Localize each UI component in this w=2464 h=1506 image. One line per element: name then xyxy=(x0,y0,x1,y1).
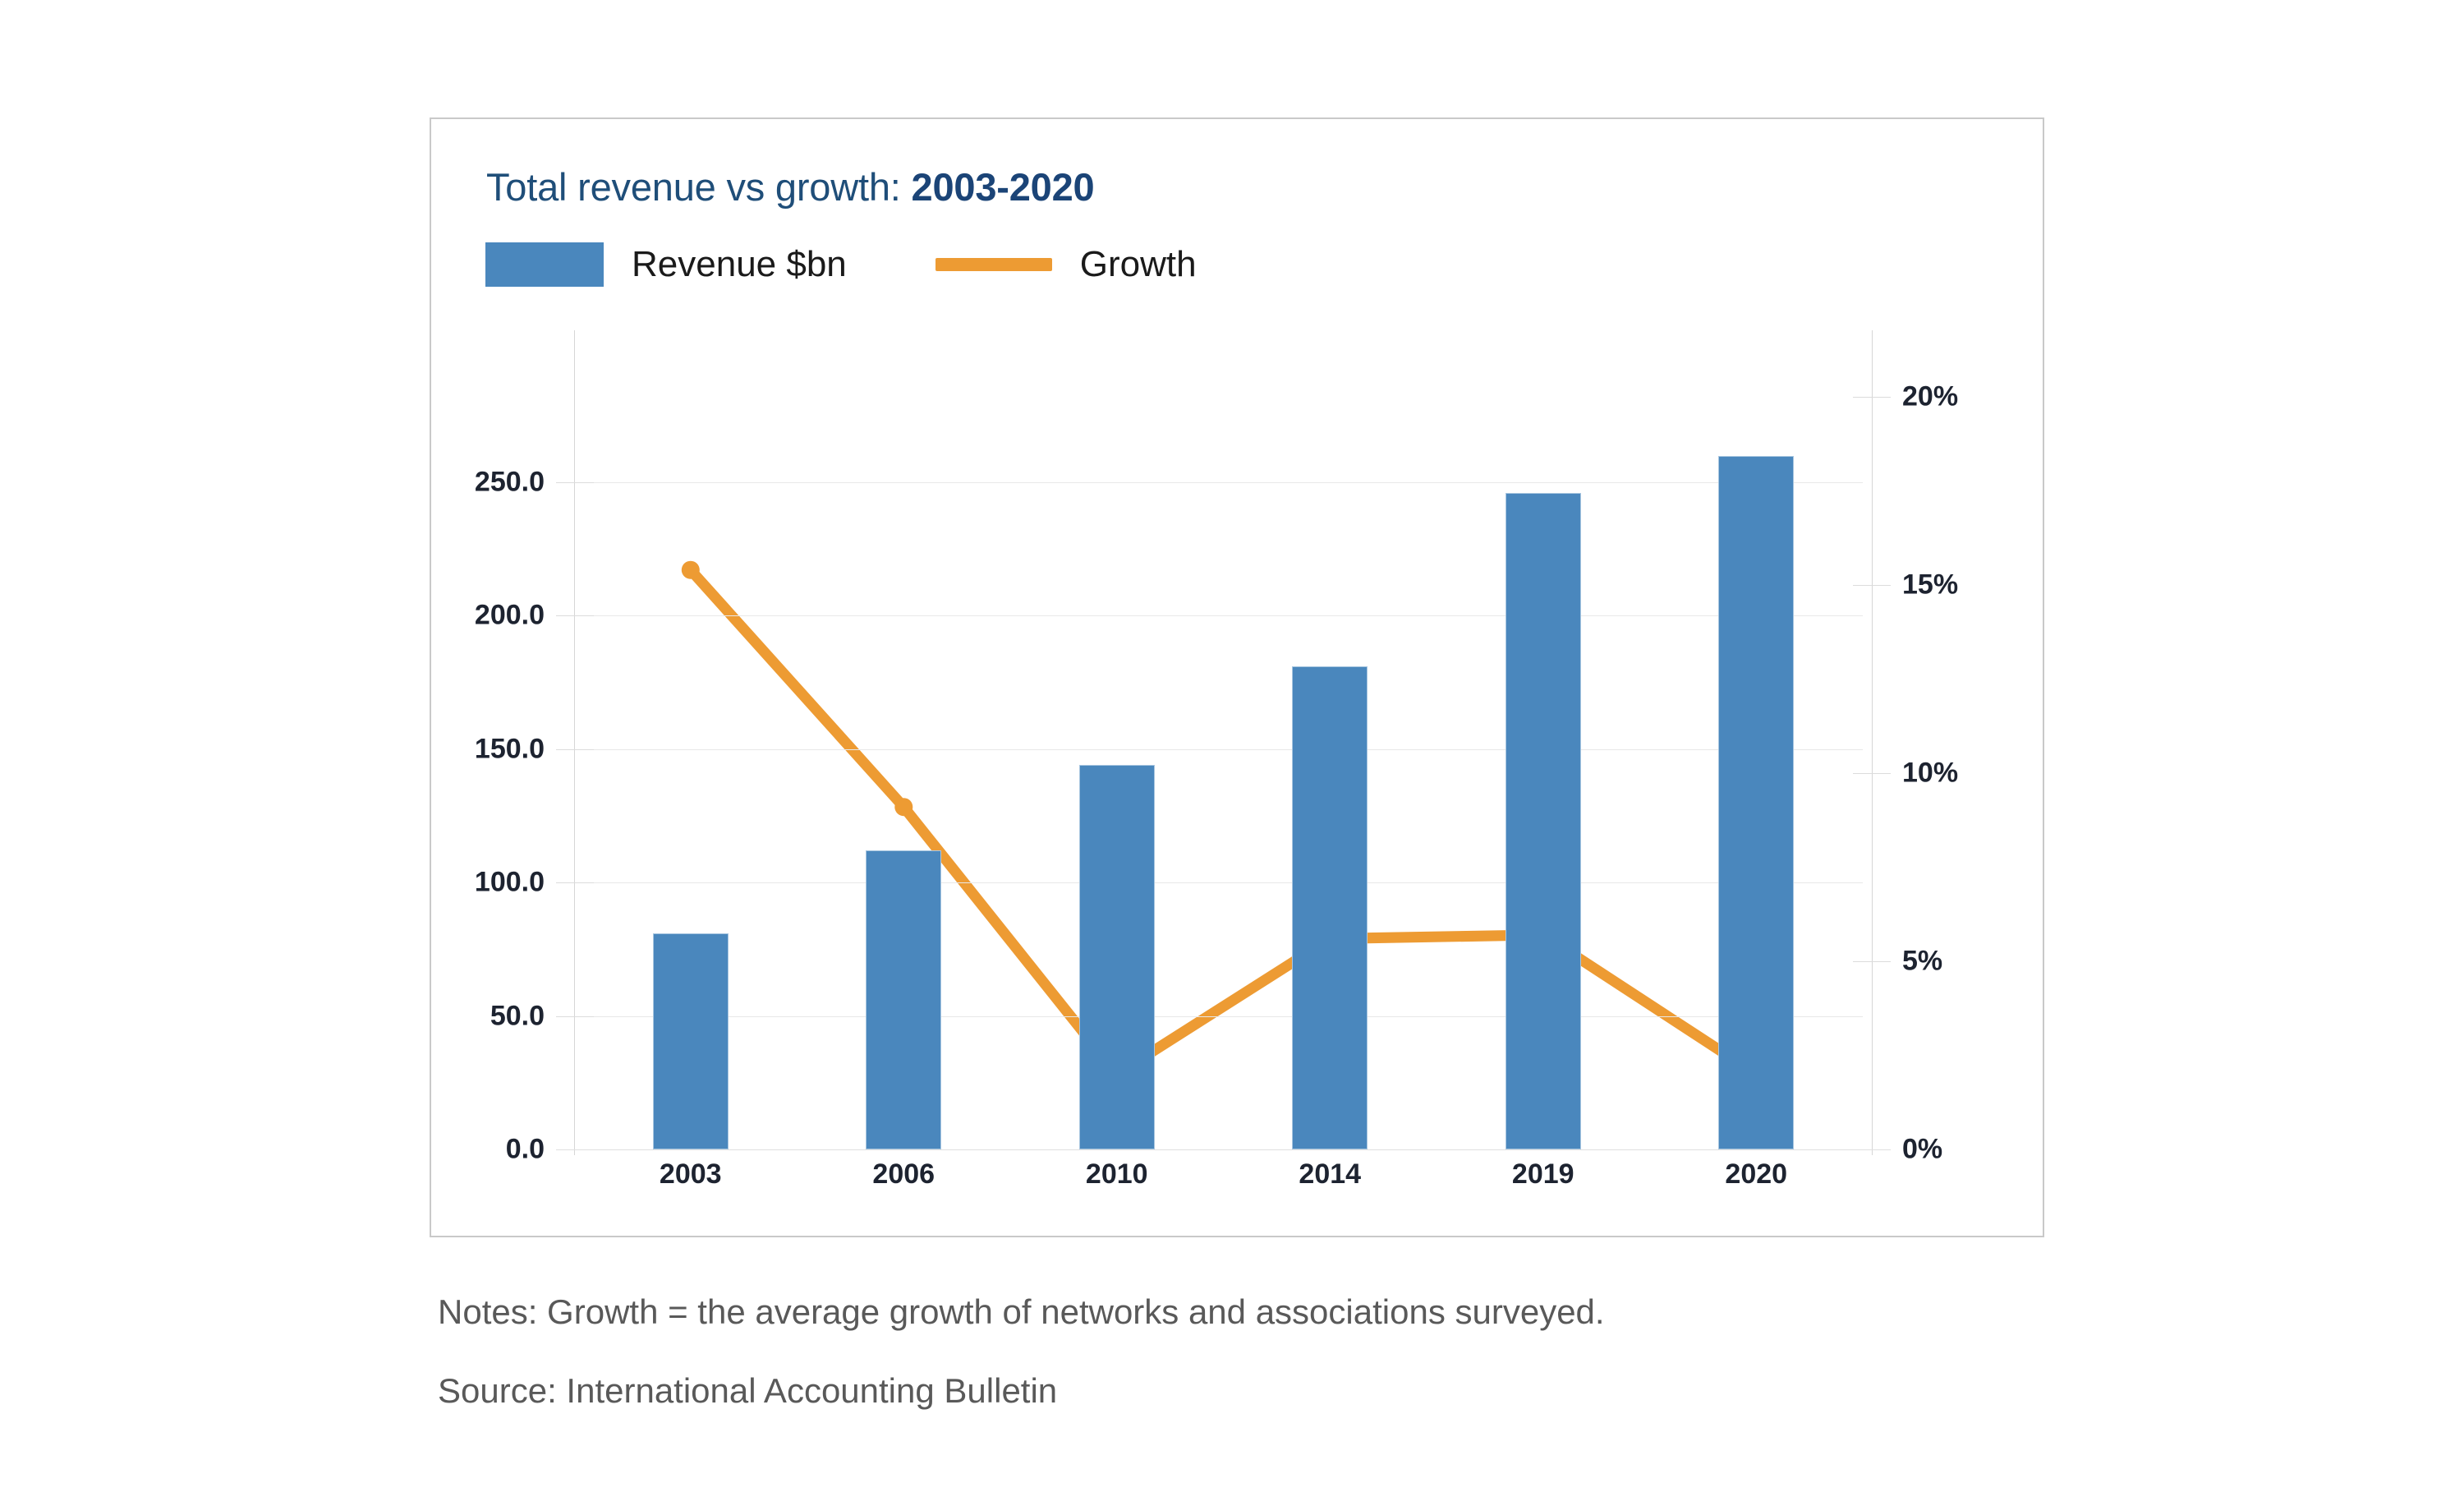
right-axis-label: 5% xyxy=(1902,946,1942,978)
baseline xyxy=(556,1149,1891,1150)
right-axis-tick xyxy=(1853,397,1891,398)
right-axis-tick xyxy=(1853,961,1891,962)
chart-card: Total revenue vs growth: 2003-2020 Reven… xyxy=(430,117,2044,1237)
bar-revenue[interactable] xyxy=(1292,666,1368,1149)
right-axis-line xyxy=(1872,330,1873,1155)
left-axis-label: 200.0 xyxy=(475,600,545,632)
left-axis-label: 0.0 xyxy=(506,1134,545,1166)
growth-data-point[interactable] xyxy=(682,561,700,579)
x-axis-label: 2006 xyxy=(872,1158,935,1191)
gridline xyxy=(584,749,1863,750)
growth-line-series xyxy=(584,376,1863,1273)
chart-page: Total revenue vs growth: 2003-2020 Reven… xyxy=(0,0,2464,1506)
bar-revenue[interactable] xyxy=(653,933,729,1149)
left-axis-label: 150.0 xyxy=(475,733,545,765)
bar-revenue[interactable] xyxy=(1079,765,1155,1149)
right-axis-label: 10% xyxy=(1902,758,1958,790)
left-axis-tick xyxy=(556,749,594,750)
left-axis-tick xyxy=(556,615,594,616)
chart-source: Source: International Accounting Bulleti… xyxy=(438,1371,1057,1411)
gridline xyxy=(584,882,1863,883)
plot-area: 0.050.0100.0150.0200.0250.00%5%10%15%20%… xyxy=(584,376,1863,1273)
x-axis-label: 2020 xyxy=(1725,1158,1787,1191)
x-axis-label: 2010 xyxy=(1086,1158,1148,1191)
bar-revenue[interactable] xyxy=(1506,493,1581,1149)
x-axis-label: 2003 xyxy=(660,1158,722,1191)
right-axis-tick xyxy=(1853,585,1891,586)
growth-line-path xyxy=(691,570,1757,1075)
left-axis-line xyxy=(574,330,575,1155)
left-axis-label: 100.0 xyxy=(475,867,545,899)
growth-data-point[interactable] xyxy=(894,798,913,816)
x-axis-label: 2014 xyxy=(1299,1158,1361,1191)
x-axis-label: 2019 xyxy=(1512,1158,1574,1191)
left-axis-label: 250.0 xyxy=(475,467,545,499)
gridline xyxy=(584,1016,1863,1017)
right-axis-label: 20% xyxy=(1902,381,1958,413)
right-axis-tick xyxy=(1853,773,1891,774)
bar-revenue[interactable] xyxy=(866,850,941,1149)
bar-revenue[interactable] xyxy=(1718,456,1794,1149)
gridline xyxy=(584,615,1863,616)
left-axis-label: 50.0 xyxy=(490,1000,545,1032)
right-axis-label: 15% xyxy=(1902,569,1958,601)
chart-notes: Notes: Growth = the average growth of ne… xyxy=(438,1292,1605,1332)
gridline xyxy=(584,482,1863,483)
right-axis-label: 0% xyxy=(1902,1134,1942,1166)
left-axis-tick xyxy=(556,482,594,483)
plot-wrapper: 0.050.0100.0150.0200.0250.00%5%10%15%20%… xyxy=(431,119,2046,1239)
left-axis-tick xyxy=(556,882,594,883)
left-axis-tick xyxy=(556,1016,594,1017)
